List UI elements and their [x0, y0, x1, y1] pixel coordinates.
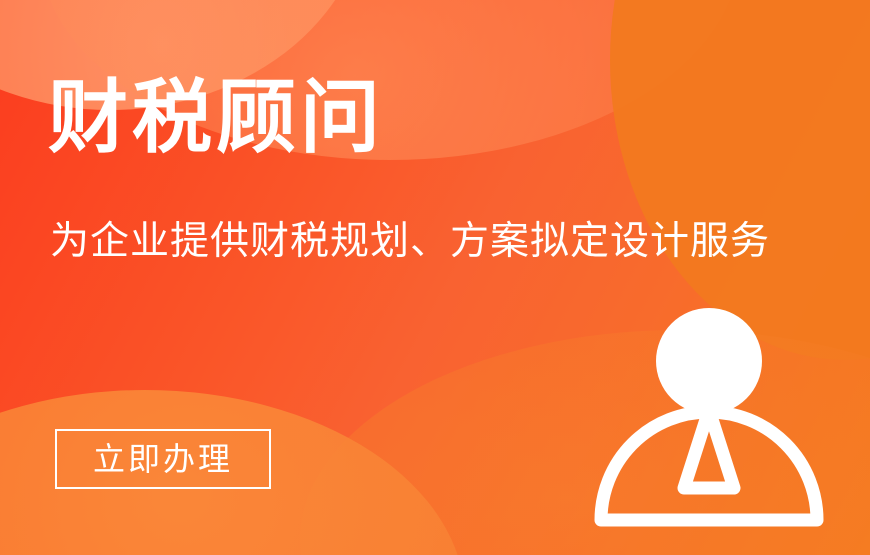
person-head-icon: [656, 308, 762, 414]
person-advisor-icon: [588, 298, 834, 538]
apply-now-button[interactable]: 立即办理: [55, 429, 271, 489]
person-necktie-icon: [684, 410, 734, 488]
banner-content: 财税顾问 为企业提供财税规划、方案拟定设计服务 立即办理: [0, 0, 870, 555]
promo-banner: 财税顾问 为企业提供财税规划、方案拟定设计服务 立即办理: [0, 0, 870, 555]
banner-headline: 财税顾问: [48, 78, 384, 158]
banner-subheadline: 为企业提供财税规划、方案拟定设计服务: [50, 222, 770, 261]
